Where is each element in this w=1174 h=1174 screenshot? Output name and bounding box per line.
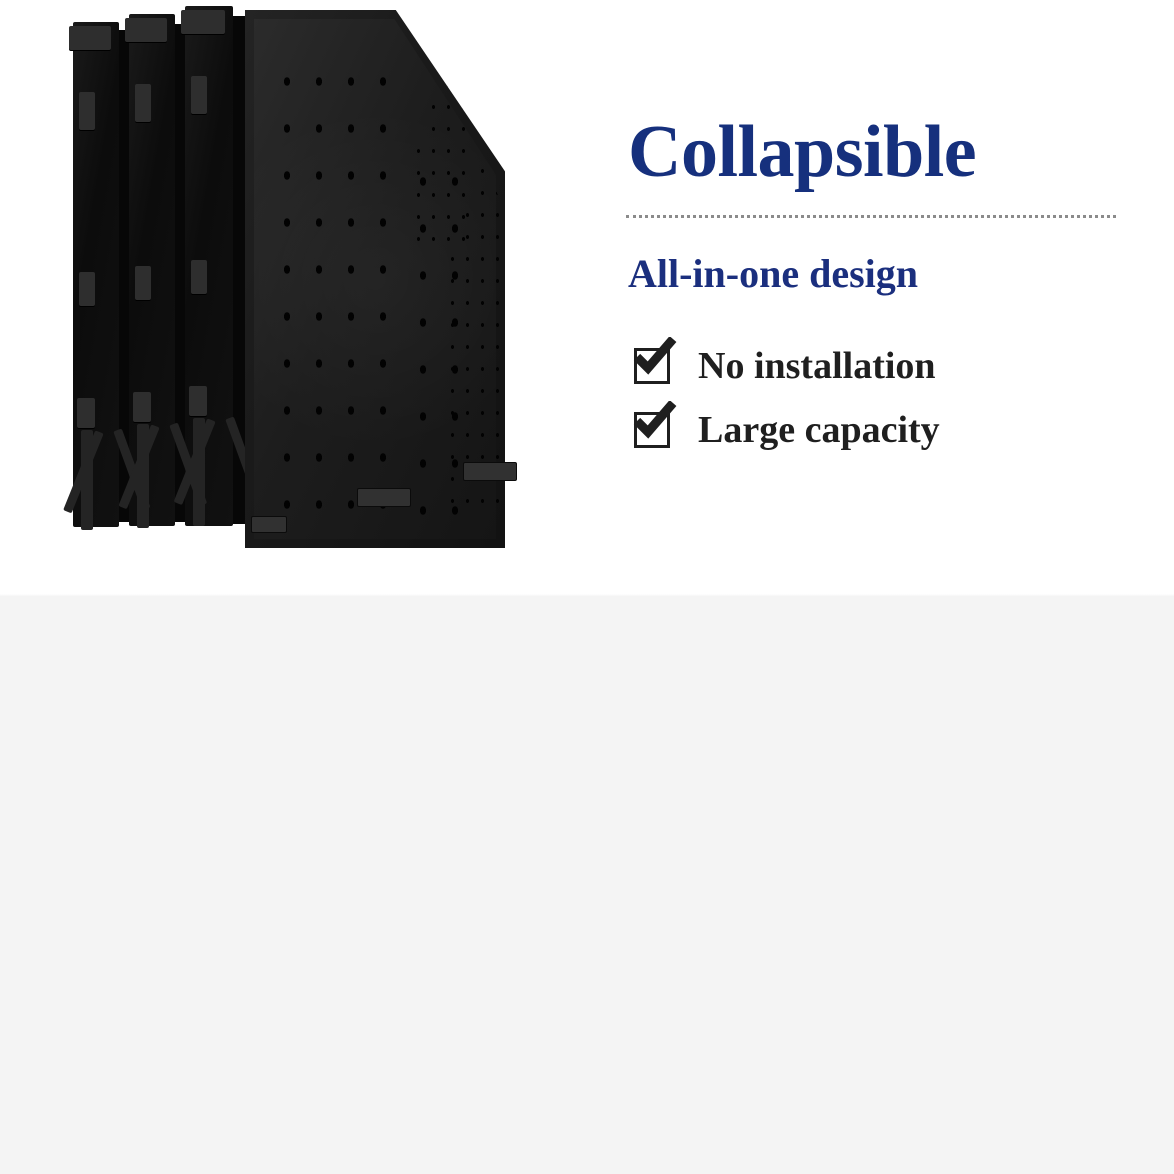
ventilation-holes xyxy=(271,58,407,520)
hinge-tab-icon xyxy=(79,272,95,306)
feature-label: Large capacity xyxy=(698,408,940,452)
hinge-tab-icon xyxy=(181,10,225,34)
hinge-tab-icon xyxy=(135,84,151,122)
product-infographic: Collapsible All-in-one design No install… xyxy=(0,0,1174,1174)
hinge-tab-icon xyxy=(191,260,207,294)
base-clip xyxy=(357,488,411,507)
product-photo-collapsible xyxy=(55,0,575,575)
subheading-all-in-one: All-in-one design xyxy=(628,250,918,297)
feature-large-capacity: Large capacity xyxy=(634,408,940,452)
hinge-tab-icon xyxy=(69,26,111,50)
feature-no-installation: No installation xyxy=(634,344,936,388)
section-collapsible: Collapsible All-in-one design No install… xyxy=(0,0,1174,597)
feature-label: No installation xyxy=(698,344,936,388)
hinge-tab-icon xyxy=(133,392,151,422)
support-foot xyxy=(81,430,93,530)
support-foot xyxy=(137,424,149,528)
support-foot xyxy=(193,418,205,526)
hinge-tab-icon xyxy=(125,18,167,42)
checkbox-checked-icon xyxy=(634,348,670,384)
checkbox-checked-icon xyxy=(634,412,670,448)
divider-dotted-top xyxy=(626,215,1116,218)
hinge-tab-icon xyxy=(189,386,207,416)
base-clip xyxy=(463,462,517,481)
hinge-tab-icon xyxy=(79,92,95,130)
hinge-tab-icon xyxy=(191,76,207,114)
hinge-tab-icon xyxy=(77,398,95,428)
hinge-tab-icon xyxy=(135,266,151,300)
base-clip xyxy=(251,516,287,533)
section-freely-retractable: Freely retractable Space saving Adjustab… xyxy=(0,597,1174,1174)
page-title-collapsible: Collapsible xyxy=(628,110,976,195)
